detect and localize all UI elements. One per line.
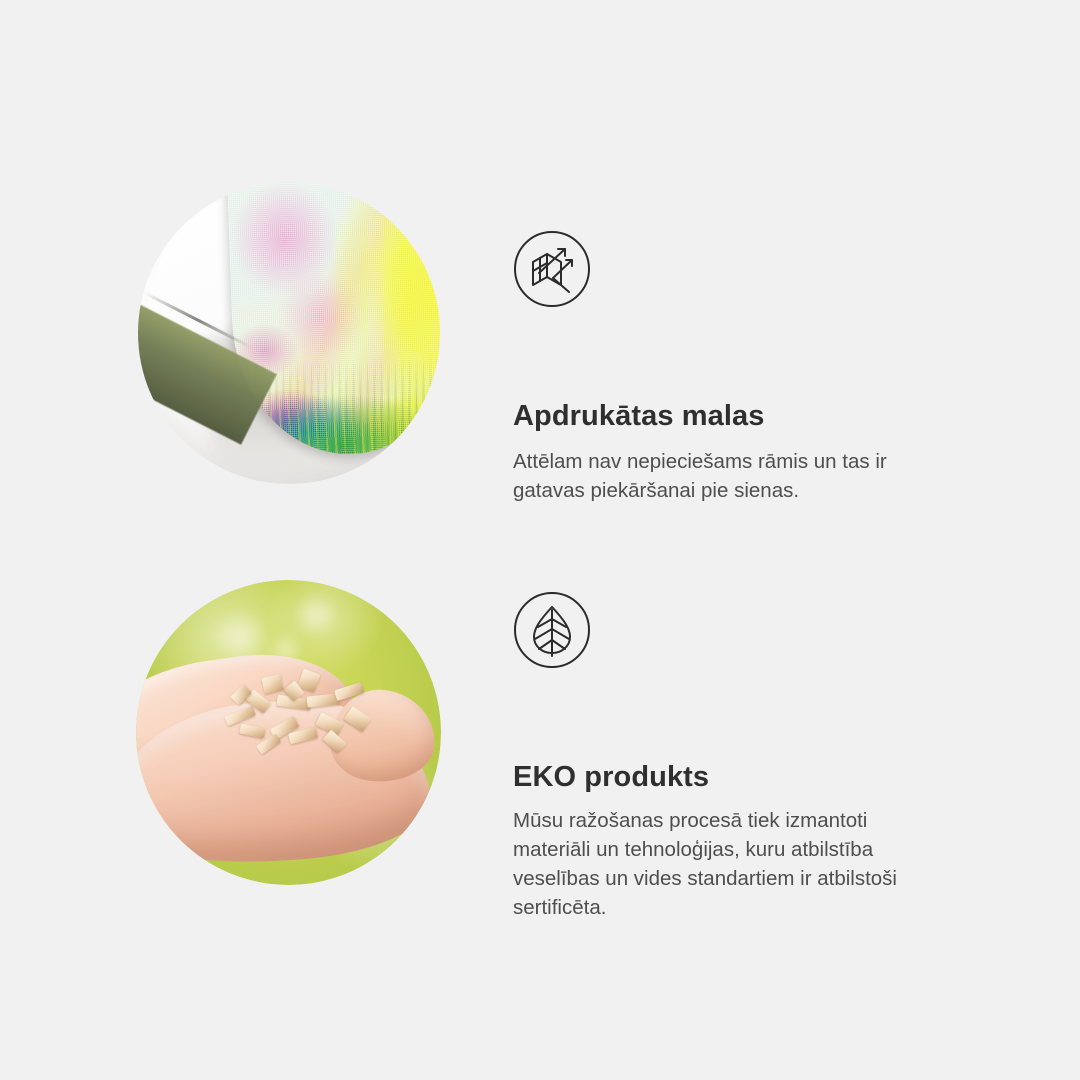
printed-edges-icon	[513, 230, 591, 308]
leaf-icon	[513, 591, 591, 669]
canvas-artwork-surface	[227, 182, 440, 458]
wood-chips-pile	[218, 662, 395, 772]
wood-chip	[323, 729, 348, 753]
wood-chip	[334, 682, 364, 701]
description-line: materiāli un tehnoloģijas, kuru atbilstī…	[513, 835, 1023, 864]
feature-eco-product-description: Mūsu ražošanas procesā tiek izmantoti ma…	[513, 806, 1023, 922]
feature-printed-edges-content: Apdrukātas malas Attēlam nav nepieciešam…	[513, 230, 1013, 505]
description-line: Mūsu ražošanas procesā tiek izmantoti	[513, 806, 1023, 835]
canvas-photo-scene	[138, 182, 440, 484]
description-line: sertificēta.	[513, 893, 1023, 922]
description-line: gatavas piekāršanai pie sienas.	[513, 476, 1013, 505]
canvas-print-corner-photo	[138, 182, 440, 484]
wood-chip	[261, 674, 283, 694]
wood-chip	[225, 705, 257, 725]
feature-printed-edges-title: Apdrukātas malas	[513, 400, 1013, 433]
bokeh-highlight	[295, 595, 335, 635]
feature-eco-product-content: EKO produkts Mūsu ražošanas procesā tiek…	[513, 591, 1023, 922]
description-line: veselības un vides standartiem ir atbils…	[513, 864, 1023, 893]
description-line: Attēlam nav nepieciešams rāmis un tas ir	[513, 447, 1013, 476]
printed-canvas-sheet	[227, 182, 440, 458]
feature-panel: Apdrukātas malas Attēlam nav nepieciešam…	[0, 0, 1080, 1080]
wood-chip	[306, 694, 339, 708]
wood-chip	[239, 724, 265, 739]
feature-eco-product-title: EKO produkts	[513, 761, 1023, 794]
wood-chip	[343, 706, 371, 733]
eco-photo-scene	[136, 580, 441, 885]
feature-printed-edges-description: Attēlam nav nepieciešams rāmis un tas ir…	[513, 447, 1013, 505]
hands-holding-wood-chips-photo	[136, 580, 441, 885]
